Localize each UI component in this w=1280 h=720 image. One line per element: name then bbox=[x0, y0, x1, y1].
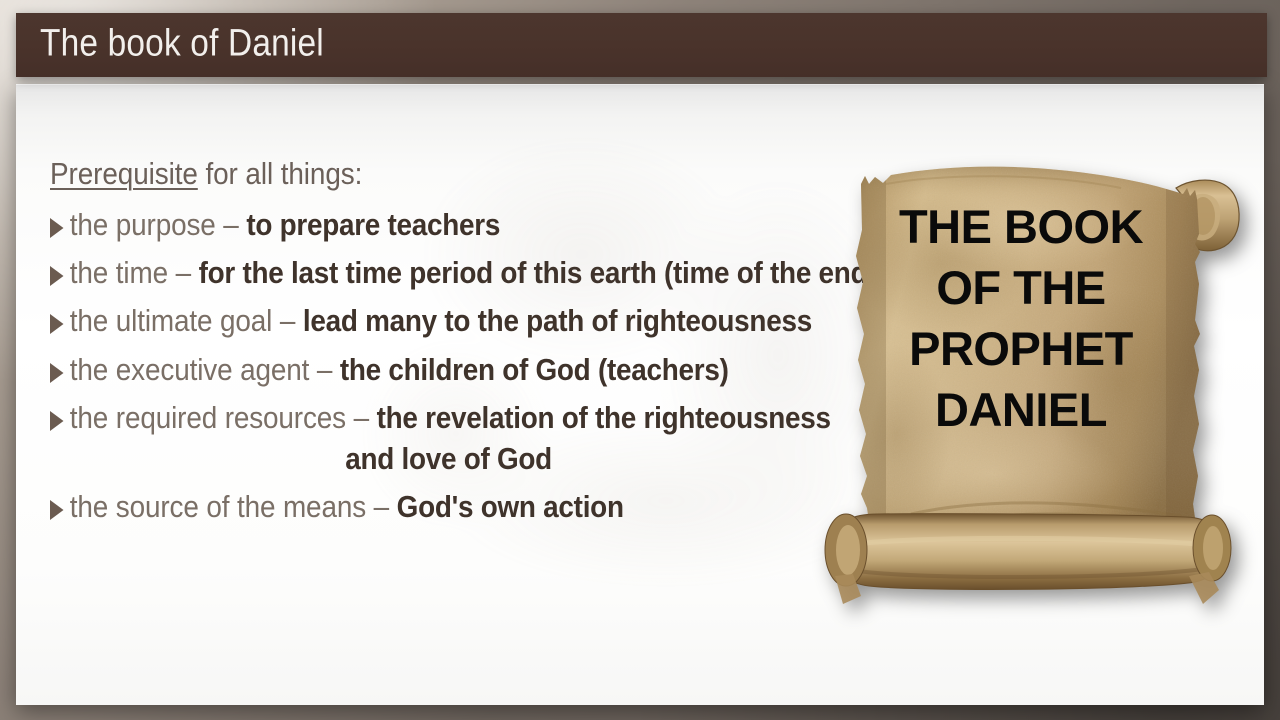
bullet-item-purpose: the purpose – to prepare teachers bbox=[50, 204, 788, 245]
slide-title-bar: The book of Daniel bbox=[16, 13, 1267, 77]
bullet-continuation-line: and love of God bbox=[70, 438, 831, 479]
bullet-label: the required resources bbox=[70, 400, 346, 435]
bullet-dash: – bbox=[272, 303, 303, 338]
bullet-text: the ultimate goal – lead many to the pat… bbox=[70, 300, 812, 341]
bullet-emphasis: God's own action bbox=[397, 489, 624, 524]
scroll-illustration: THE BOOK OF THE PROPHET DANIEL bbox=[791, 84, 1251, 639]
bullet-text: the purpose – to prepare teachers bbox=[70, 204, 500, 245]
bullet-item-required-resources: the required resources – the revelation … bbox=[50, 397, 788, 479]
bullet-dash: – bbox=[216, 207, 247, 242]
bullet-dash: – bbox=[168, 255, 199, 290]
bullet-label: the source of the means bbox=[70, 489, 366, 524]
bullet-item-executive-agent: the executive agent – the children of Go… bbox=[50, 349, 788, 390]
bullet-text: the time – for the last time period of t… bbox=[70, 252, 877, 293]
bullet-dash: – bbox=[309, 352, 340, 387]
bullet-item-source-of-means: the source of the means – God's own acti… bbox=[50, 486, 788, 527]
bullet-emphasis: the children of God (teachers) bbox=[340, 352, 729, 387]
bullet-emphasis: lead many to the path of righteousness bbox=[303, 303, 812, 338]
triangle-bullet-icon bbox=[50, 500, 64, 520]
scroll-sheet bbox=[841, 159, 1216, 554]
bullet-emphasis: to prepare teachers bbox=[246, 207, 500, 242]
presentation-frame: Prerequisite for all things: the purpose… bbox=[0, 0, 1280, 720]
triangle-bullet-icon bbox=[50, 314, 64, 334]
lead-underlined-word: Prerequisite bbox=[50, 156, 198, 191]
bullet-label: the time bbox=[70, 255, 168, 290]
slide-canvas: Prerequisite for all things: the purpose… bbox=[16, 84, 1264, 705]
bullet-item-time: the time – for the last time period of t… bbox=[50, 252, 788, 293]
lead-rest-text: for all things: bbox=[198, 156, 362, 191]
scroll-shadow bbox=[791, 84, 1251, 639]
bullet-label: the ultimate goal bbox=[70, 303, 272, 338]
lead-line: Prerequisite for all things: bbox=[50, 156, 788, 192]
triangle-bullet-icon bbox=[50, 363, 64, 383]
bullet-text: the executive agent – the children of Go… bbox=[70, 349, 729, 390]
scroll-bottom-roll bbox=[825, 514, 1231, 604]
bullet-text: the required resources – the revelation … bbox=[70, 397, 831, 479]
triangle-bullet-icon bbox=[50, 411, 64, 431]
content-text-block: Prerequisite for all things: the purpose… bbox=[50, 156, 870, 535]
bullet-emphasis: for the last time period of this earth (… bbox=[199, 255, 877, 290]
triangle-bullet-icon bbox=[50, 266, 64, 286]
page-title: The book of Daniel bbox=[40, 23, 324, 66]
bullet-emphasis: the revelation of the righteousness bbox=[377, 400, 831, 435]
bullet-label: the executive agent bbox=[70, 352, 309, 387]
triangle-bullet-icon bbox=[50, 218, 64, 238]
bullet-item-ultimate-goal: the ultimate goal – lead many to the pat… bbox=[50, 300, 788, 341]
bullet-text: the source of the means – God's own acti… bbox=[70, 486, 624, 527]
bullet-dash: – bbox=[346, 400, 377, 435]
bullet-dash: – bbox=[366, 489, 397, 524]
scroll-svg bbox=[791, 84, 1251, 639]
bullet-label: the purpose bbox=[70, 207, 216, 242]
